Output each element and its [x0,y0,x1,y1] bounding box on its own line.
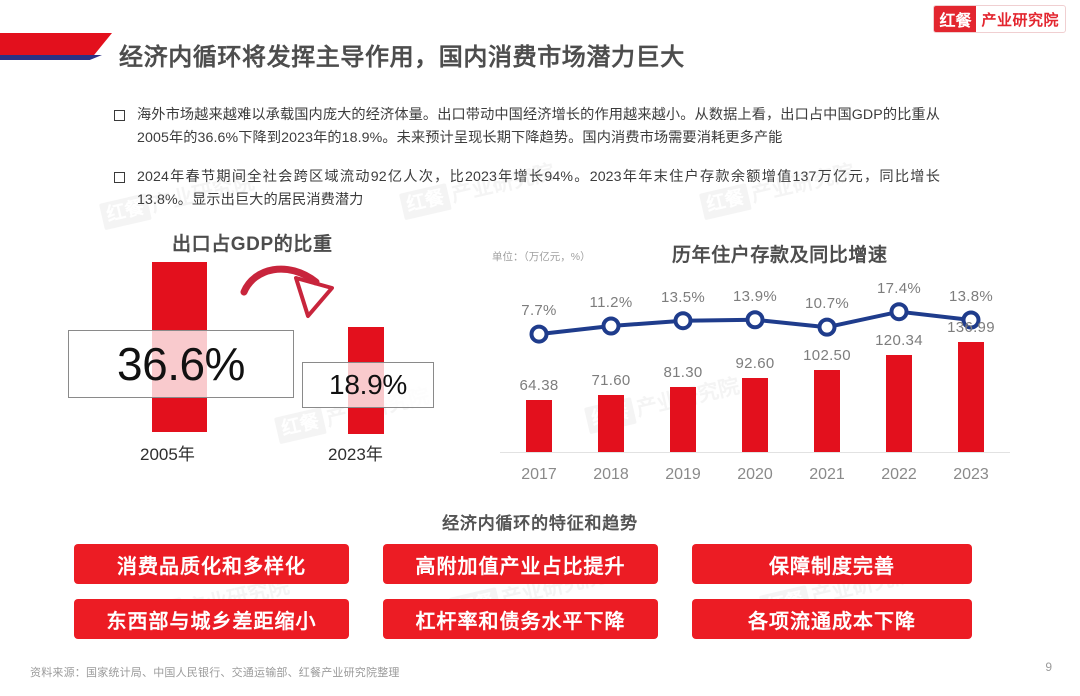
brand-logo-mark: 红餐 [934,6,976,32]
deposit-bar [526,400,552,452]
source-note: 资料来源：国家统计局、中国人民银行、交通运输部、红餐产业研究院整理 [30,664,400,680]
deposit-value-label: 71.60 [591,372,630,389]
bullet-list: 海外市场越来越难以承载国内庞大的经济体量。出口带动中国经济增长的作用越来越小。从… [114,104,940,228]
growth-rate-label: 11.2% [590,294,633,311]
square-bullet-icon [114,172,125,183]
growth-rate-label: 13.8% [949,288,993,305]
feature-tag[interactable]: 保障制度完善 [692,544,972,584]
value-box-2005: 36.6% [68,330,294,398]
title-accent-bar [0,33,112,61]
growth-rate-label: 10.7% [805,295,849,312]
bullet-text: 海外市场越来越难以承载国内庞大的经济体量。出口带动中国经济增长的作用越来越小。从… [137,104,940,150]
deposit-bar [598,395,624,452]
deposit-bar [670,387,696,452]
x-axis-tick-label: 2020 [737,466,773,484]
slide-canvas: 红餐 产业研究院 红餐 产业研究院 红餐 产业研究院 红餐 产业研究院 红餐 产… [0,0,1080,696]
left-chart-title: 出口占GDP的比重 [172,229,333,256]
accent-blue-shape [0,55,102,60]
household-deposit-combo-chart: 64.38201771.60201881.30201992.602020102.… [492,262,1012,488]
list-item: 2024年春节期间全社会跨区域流动92亿人次，比2023年增长94%。2023年… [114,166,940,212]
deposit-value-label: 120.34 [875,332,923,349]
value-box-2023: 18.9% [302,362,434,408]
accent-red-shape [0,33,112,55]
curved-down-right-arrow-icon [240,258,360,328]
deposit-value-label: 136.99 [947,319,995,336]
page-title: 经济内循环将发挥主导作用，国内消费市场潜力巨大 [119,37,685,72]
export-gdp-comparison-chart: 36.6% 18.9% 2005年 2023年 [40,262,470,462]
brand-logo: 红餐 产业研究院 [933,5,1066,33]
square-bullet-icon [114,110,125,121]
deposit-value-label: 92.60 [735,355,774,372]
value-label-2005: 36.6% [117,341,245,387]
feature-tag-grid: 消费品质化和多样化高附加值产业占比提升保障制度完善东西部与城乡差距缩小杠杆率和债… [74,544,974,639]
features-section-title: 经济内循环的特征和趋势 [0,509,1080,534]
deposit-bar [742,378,768,452]
deposit-value-label: 64.38 [519,377,558,394]
bullet-text: 2024年春节期间全社会跨区域流动92亿人次，比2023年增长94%。2023年… [137,166,940,212]
deposit-bar [814,370,840,452]
growth-rate-label: 13.9% [733,288,777,305]
x-axis-tick-label: 2019 [665,466,701,484]
feature-tag[interactable]: 东西部与城乡差距缩小 [74,599,349,639]
feature-tag[interactable]: 高附加值产业占比提升 [383,544,658,584]
deposit-value-label: 102.50 [803,347,851,364]
x-axis-tick-label: 2021 [809,466,845,484]
brand-logo-name: 产业研究院 [976,6,1065,32]
growth-rate-label: 17.4% [877,280,921,297]
list-item: 海外市场越来越难以承载国内庞大的经济体量。出口带动中国经济增长的作用越来越小。从… [114,104,940,150]
x-axis-tick-label: 2023 [953,466,989,484]
x-axis-tick-label: 2018 [593,466,629,484]
page-number: 9 [1045,660,1052,674]
x-axis-tick-label: 2017 [521,466,557,484]
bar-column: 64.382017 [502,262,576,452]
feature-tag[interactable]: 杠杆率和债务水平下降 [383,599,658,639]
deposit-value-label: 81.30 [663,364,702,381]
growth-rate-label: 7.7% [521,302,556,319]
growth-rate-label: 13.5% [661,289,705,306]
feature-tag[interactable]: 各项流通成本下降 [692,599,972,639]
deposit-bar [886,355,912,452]
bar-column: 71.602018 [574,262,648,452]
x-axis-tick-label: 2022 [881,466,917,484]
deposit-bar [958,342,984,452]
category-label-2023: 2023年 [328,440,383,465]
bar-column: 102.502021 [790,262,864,452]
feature-tag[interactable]: 消费品质化和多样化 [74,544,349,584]
value-label-2023: 18.9% [329,371,407,399]
category-label-2005: 2005年 [140,440,195,465]
